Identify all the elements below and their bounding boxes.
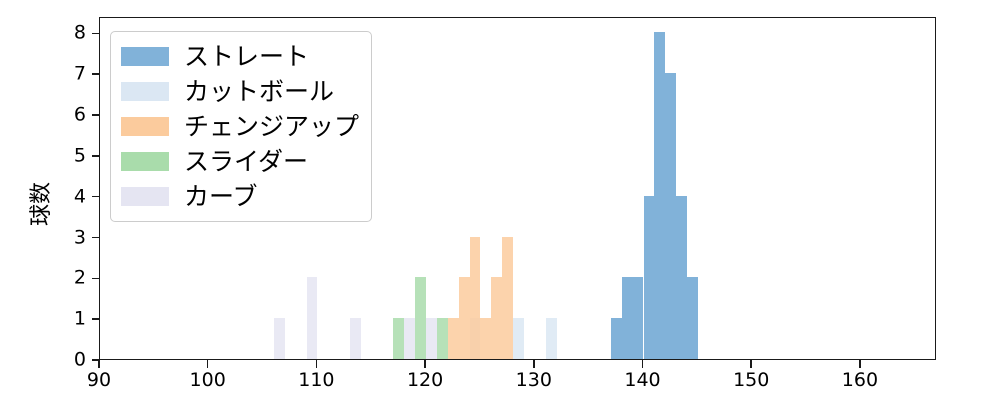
- legend-swatch-icon: [121, 82, 169, 101]
- histogram-bar: [687, 277, 698, 359]
- x-axis-tick-label: 160: [825, 371, 895, 390]
- legend-item-label: スライダー: [184, 149, 308, 174]
- x-axis-tick: [750, 360, 752, 368]
- x-axis-tick: [533, 360, 535, 368]
- y-axis-tick-label: 1: [50, 310, 86, 329]
- y-axis-tick-label: 3: [50, 228, 86, 247]
- legend-swatch-icon: [121, 117, 169, 136]
- y-axis-tick: [92, 73, 100, 75]
- legend-item[interactable]: カットボール: [121, 74, 359, 109]
- x-axis-tick: [98, 360, 100, 368]
- x-axis-tick: [424, 360, 426, 368]
- histogram-bar: [513, 318, 524, 359]
- histogram-bar: [470, 237, 481, 360]
- histogram-bar: [633, 277, 644, 359]
- legend-item-label: カーブ: [184, 184, 258, 209]
- x-axis-tick-label: 110: [281, 371, 351, 390]
- y-axis-tick: [92, 155, 100, 157]
- x-axis-tick-label: 150: [716, 371, 786, 390]
- x-axis-tick-label: 140: [608, 371, 678, 390]
- histogram-bar: [404, 318, 415, 359]
- histogram-bar: [502, 237, 513, 360]
- y-axis-tick-label: 4: [50, 187, 86, 206]
- x-axis-tick-label: 120: [390, 371, 460, 390]
- histogram-bar: [644, 196, 655, 359]
- histogram-bar: [459, 277, 470, 359]
- histogram-bar: [654, 32, 665, 359]
- histogram-bar: [274, 318, 285, 359]
- x-axis-tick: [316, 360, 318, 368]
- histogram-bar: [676, 196, 687, 359]
- histogram-bar: [448, 318, 459, 359]
- y-axis-tick: [92, 318, 100, 320]
- x-axis-tick-label: 100: [173, 371, 243, 390]
- histogram-bar: [415, 277, 426, 359]
- x-axis-tick-label: 90: [64, 371, 134, 390]
- legend-item[interactable]: ストレート: [121, 39, 359, 74]
- y-axis-tick-label: 2: [50, 269, 86, 288]
- y-axis-tick-label: 5: [50, 146, 86, 165]
- legend-item[interactable]: カーブ: [121, 179, 359, 214]
- legend-item[interactable]: チェンジアップ: [121, 109, 359, 144]
- y-axis-tick-label: 7: [50, 65, 86, 84]
- histogram-bar: [622, 277, 633, 359]
- legend-item-label: カットボール: [184, 79, 334, 104]
- y-axis-tick-label: 8: [50, 24, 86, 43]
- histogram-figure: 球数 ストレートカットボールチェンジアップスライダーカーブ 0123456789…: [0, 0, 1000, 400]
- histogram-bar: [491, 277, 502, 359]
- histogram-bar: [480, 318, 491, 359]
- histogram-bar: [350, 318, 361, 359]
- histogram-bar: [393, 318, 404, 359]
- x-axis-tick-label: 130: [499, 371, 569, 390]
- y-axis-tick: [92, 196, 100, 198]
- histogram-bar: [426, 318, 437, 359]
- legend-swatch-icon: [121, 47, 169, 66]
- histogram-bar: [546, 318, 557, 359]
- histogram-bar: [665, 73, 676, 359]
- histogram-bar: [611, 318, 622, 359]
- y-axis-tick-label: 0: [50, 351, 86, 370]
- histogram-bar: [437, 318, 448, 359]
- legend-item[interactable]: スライダー: [121, 144, 359, 179]
- histogram-bar: [307, 277, 318, 359]
- legend-swatch-icon: [121, 187, 169, 206]
- y-axis-tick: [92, 33, 100, 35]
- y-axis-tick: [92, 114, 100, 116]
- x-axis-tick: [207, 360, 209, 368]
- x-axis-tick: [859, 360, 861, 368]
- legend-item-label: チェンジアップ: [184, 114, 359, 139]
- chart-legend: ストレートカットボールチェンジアップスライダーカーブ: [110, 31, 372, 222]
- y-axis-tick-label: 6: [50, 106, 86, 125]
- y-axis-tick: [92, 237, 100, 239]
- legend-swatch-icon: [121, 152, 169, 171]
- legend-item-label: ストレート: [184, 44, 309, 69]
- y-axis-tick: [92, 278, 100, 280]
- x-axis-tick: [642, 360, 644, 368]
